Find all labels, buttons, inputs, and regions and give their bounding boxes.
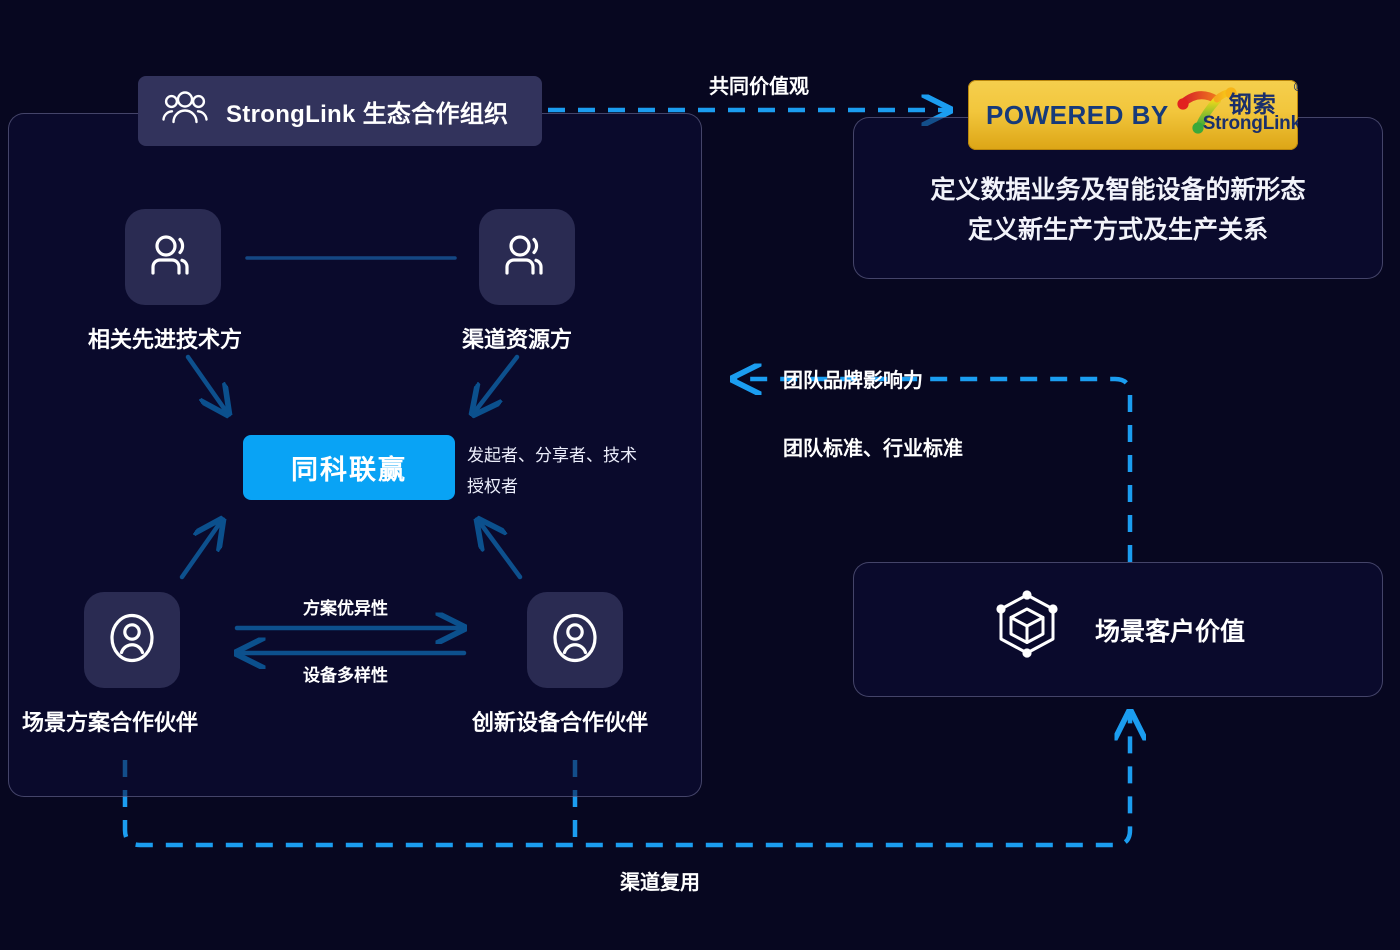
- powered-by-text: POWERED BY: [986, 100, 1169, 131]
- node-tile-tech[interactable]: [125, 209, 221, 305]
- edge-label-device-diversity: 设备多样性: [303, 661, 388, 686]
- stronglink-logo: 钢索 ® StrongLink: [1177, 87, 1298, 143]
- brand-en-text: StrongLink: [1203, 113, 1298, 135]
- brand-registered-mark: ®: [1294, 80, 1298, 94]
- edge-label-brand-influence: 团队品牌影响力: [783, 364, 923, 393]
- node-tile-channel[interactable]: [479, 209, 575, 305]
- hexagon-cube-network-icon: [991, 589, 1063, 670]
- edge-label-channel-reuse: 渠道复用: [620, 866, 700, 895]
- node-label-channel: 渠道资源方: [462, 322, 572, 354]
- user-circle-icon: [549, 612, 601, 669]
- powered-by-badge: POWERED BY: [968, 80, 1298, 150]
- customer-value-content: 场景客户价值: [853, 562, 1383, 697]
- dashed-brand-standards: [733, 379, 1130, 562]
- two-people-icon: [503, 233, 551, 282]
- value-line-1: 定义数据业务及智能设备的新形态: [853, 170, 1383, 210]
- center-node-note: 发起者、分享者、技术授权者: [467, 440, 642, 502]
- edge-label-standards: 团队标准、行业标准: [783, 432, 963, 461]
- org-chip-label: StrongLink 生态合作组织: [226, 94, 508, 129]
- center-node-label: 同科联赢: [291, 448, 407, 487]
- group-people-icon: [162, 89, 208, 134]
- two-people-icon: [149, 233, 197, 282]
- org-chip[interactable]: StrongLink 生态合作组织: [138, 76, 542, 146]
- center-node-chip[interactable]: 同科联赢: [243, 435, 455, 500]
- customer-value-label: 场景客户价值: [1095, 612, 1245, 648]
- node-label-device: 创新设备合作伙伴: [472, 705, 648, 737]
- diagram-canvas: StrongLink 生态合作组织 POWERED BY: [0, 0, 1400, 950]
- value-line-2: 定义新生产方式及生产关系: [853, 210, 1383, 250]
- user-circle-icon: [106, 612, 158, 669]
- node-label-scene: 场景方案合作伙伴: [22, 705, 198, 737]
- node-tile-scene[interactable]: [84, 592, 180, 688]
- edge-label-solution-advantage: 方案优异性: [303, 594, 388, 619]
- node-tile-device[interactable]: [527, 592, 623, 688]
- node-label-tech: 相关先进技术方: [88, 322, 242, 354]
- value-definition-text: 定义数据业务及智能设备的新形态 定义新生产方式及生产关系: [853, 170, 1383, 250]
- edge-label-shared-values: 共同价值观: [709, 70, 809, 99]
